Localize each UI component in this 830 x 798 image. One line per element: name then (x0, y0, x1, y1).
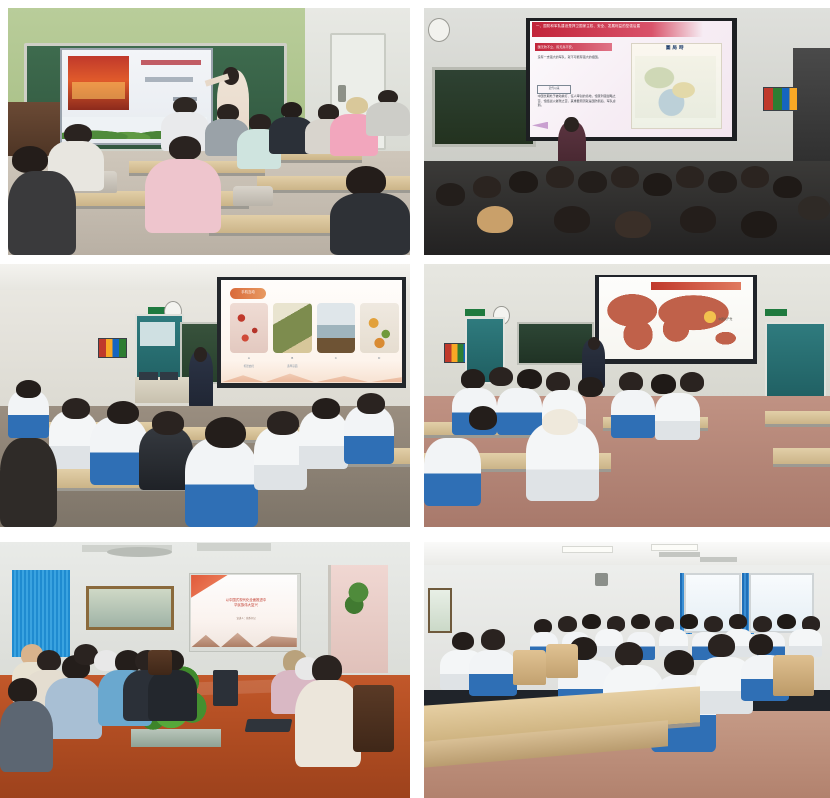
desk-row (257, 176, 410, 193)
slide-title-bar (651, 282, 740, 290)
photo-panel-middle-left[interactable]: 手机互动 A B C D 毛肚血旺 翡翠凉面 (0, 264, 410, 527)
student-head (469, 406, 497, 430)
student-head (753, 616, 772, 631)
student-body (0, 438, 57, 527)
student-head (615, 642, 643, 666)
seat-back (773, 655, 814, 696)
student-head (704, 616, 723, 631)
audience-head-hat (798, 196, 830, 221)
audience-head (615, 211, 652, 238)
photo-panel-bottom-left[interactable]: 以中国式现代化全面推进中 华民族伟大复兴 宣讲人：党委书记 (0, 542, 410, 798)
exit-sign (765, 309, 787, 316)
ceiling-fan-icon (700, 557, 737, 562)
audience-head (436, 183, 464, 205)
audience-head (554, 206, 591, 233)
audience-head (578, 171, 606, 193)
slide-option-image-d (360, 303, 399, 353)
student-head (749, 634, 773, 654)
ceiling-light (562, 546, 613, 554)
student-head (481, 629, 505, 649)
slide-subheading-block (145, 77, 193, 81)
world-map-graphic (603, 293, 749, 351)
exit-sign (465, 309, 485, 316)
audience-head (509, 171, 537, 193)
student-head (578, 377, 602, 397)
student-head (62, 398, 91, 419)
audience-head (546, 166, 574, 188)
slide-heading-line2: 华民族伟大复兴 (234, 603, 258, 607)
audience-head (741, 166, 769, 188)
audience-head (643, 173, 671, 195)
attendee-body (45, 678, 102, 739)
photo-panel-middle-right[interactable]: 中国共产党 (424, 264, 830, 527)
wall-speaker-icon (595, 573, 609, 586)
student-head (452, 632, 474, 650)
student-body (330, 193, 410, 255)
student-head (582, 614, 601, 629)
conference-room-scene: 以中国式现代化全面推进中 华民族伟大复兴 宣讲人：党委书记 (0, 542, 410, 798)
door-glass-panel (140, 322, 175, 346)
student-uniform (469, 650, 518, 696)
window-curtain (12, 570, 69, 657)
slide-subheading: 宣讲人：党委书记 (226, 616, 267, 620)
slide-option-caption-b: 翡翠凉面 (273, 364, 312, 368)
slide-option-image-c (317, 303, 356, 353)
student-uniform (299, 411, 348, 469)
audience-head (741, 211, 778, 238)
slide-tag: 近代以来 (537, 85, 571, 94)
door-handle-icon (338, 85, 346, 102)
desktop-monitor (213, 670, 238, 706)
student-head (461, 369, 485, 389)
slide-figure-artwork (635, 56, 716, 118)
student-uniform (185, 438, 259, 527)
attendee-head (8, 678, 37, 704)
audience-head (473, 176, 501, 198)
slide-option-key-a: A (230, 356, 269, 360)
classroom-scene-world-map: 中国共产党 (424, 264, 830, 527)
photo-collage: 一、国防和军队建设是捍卫国家主权、安全、发展利益的坚强后盾 国无防不立，民无兵不… (0, 0, 830, 790)
audience-head (680, 206, 717, 233)
student-head (651, 374, 675, 394)
seat-back (546, 644, 578, 677)
laptop (160, 372, 178, 380)
student-head (12, 146, 48, 173)
office-chair (353, 685, 394, 752)
landscape-painting (86, 586, 174, 630)
map-label: 中国共产党 (718, 317, 755, 321)
student-head (664, 650, 694, 676)
student-head (517, 369, 541, 389)
student-head (152, 411, 185, 435)
student-hood (542, 409, 579, 435)
slide-heading-block (141, 60, 201, 65)
ceiling-light (651, 544, 698, 551)
attendee-head (37, 650, 62, 672)
audience-head (708, 171, 736, 193)
slide-heading-line1: 以中国式现代化全面推进中 (226, 598, 267, 602)
student-uniform (655, 393, 700, 440)
ceiling-fan-icon (659, 552, 700, 557)
student-uniform (497, 388, 542, 435)
student-uniform (344, 406, 393, 464)
student-head (357, 393, 386, 414)
student-head (777, 614, 796, 629)
equipment-cabinet (793, 48, 830, 167)
audience-head (676, 166, 704, 188)
student-head (169, 136, 201, 159)
slide-option-caption-a: 毛肚血旺 (230, 364, 269, 368)
presenter-head (194, 347, 207, 362)
slide-red-label-text: 国无防不立，民无兵不安。 (538, 44, 611, 49)
student-head (16, 380, 41, 398)
student-body (366, 102, 410, 137)
student-head (107, 401, 140, 425)
ceiling (424, 542, 830, 565)
student-head (346, 166, 386, 196)
attendee-body (295, 680, 361, 767)
slide-option-key-b: B (273, 356, 312, 360)
student-head (546, 372, 570, 392)
classroom-scene-food-slide: 手机互动 A B C D 毛肚血旺 翡翠凉面 (0, 264, 410, 527)
student-uniform (424, 438, 481, 506)
student-head (729, 614, 748, 629)
student-head-glasses (708, 634, 735, 657)
desk-row (765, 411, 830, 427)
slide-option-key-d: D (360, 356, 399, 360)
student-head (267, 411, 300, 435)
chalkboard (432, 67, 535, 147)
student-head (680, 372, 704, 392)
laptop (139, 372, 157, 380)
classroom-scene-green-wall (8, 8, 410, 255)
presenter-head (588, 337, 600, 350)
podium (135, 377, 192, 403)
student-head (619, 372, 643, 392)
slide-pill-label: 手机互动 (230, 289, 267, 294)
student-head (680, 614, 699, 629)
photo-panel-bottom-right[interactable] (424, 542, 830, 798)
photo-panel-top-left[interactable] (8, 8, 410, 255)
office-chair (148, 650, 173, 676)
slide-body-text-2: 中国长期处于被动挨打、任人宰割的境地，饱受列强侵略之苦、饱经战火摧残之苦，其重要… (538, 94, 619, 108)
hanging-plant (344, 578, 373, 619)
photo-panel-top-right[interactable]: 一、国防和军队建设是捍卫国家主权、安全、发展利益的坚强后盾 国无防不立，民无兵不… (424, 8, 830, 255)
student-body-pink (145, 159, 221, 233)
wall-monitor (98, 338, 127, 358)
student-head (312, 398, 341, 419)
slide-option-image-b (273, 303, 312, 353)
wall-monitor (763, 87, 797, 111)
student-head (281, 102, 302, 118)
slide-body-text-1: 没有一支强大的军队，就不可能有强大的祖国。 (538, 55, 619, 60)
attendee-head (312, 655, 343, 683)
attendee-body (0, 701, 53, 773)
student-head (205, 417, 246, 449)
student-head (631, 614, 650, 629)
student-uniform (611, 390, 656, 437)
ceiling-beam (197, 543, 271, 551)
chair (233, 186, 273, 206)
slide-figure-title: 圖局時 (643, 45, 708, 51)
slide-heading: 以中国式现代化全面推进中 华民族伟大复兴 (213, 598, 279, 608)
slide-title-text: 一、国防和军队建设是捍卫国家主权、安全、发展利益的坚强后盾 (536, 24, 698, 36)
keyboard (245, 719, 293, 732)
desk-row (773, 448, 830, 467)
lecture-room-students-scene (424, 542, 830, 798)
slide-option-key-c: C (317, 356, 356, 360)
wall-picture-frame (428, 588, 452, 633)
audience-head (611, 166, 639, 188)
audience-head-cap (477, 206, 514, 233)
student-head (558, 616, 577, 631)
student-uniform (789, 629, 821, 657)
lecture-hall-scene: 一、国防和军队建设是捍卫国家主权、安全、发展利益的坚强后盾 国无防不立，民无兵不… (424, 8, 830, 255)
seat-back (513, 650, 545, 686)
teal-door (765, 322, 826, 405)
slide-option-image-a (230, 303, 269, 353)
audience-head (773, 176, 801, 198)
student-body (8, 171, 76, 255)
student-head-blonde (346, 97, 369, 114)
slide-photo-glow (72, 82, 124, 99)
student-head (489, 367, 513, 387)
attendee-body (148, 670, 197, 721)
